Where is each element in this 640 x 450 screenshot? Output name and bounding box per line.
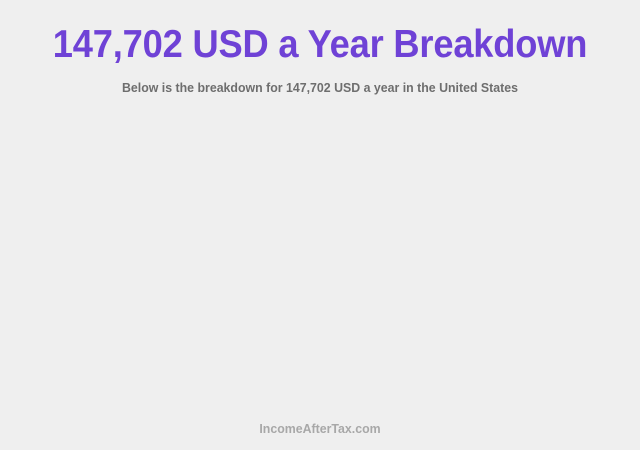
breakdown-body xyxy=(0,96,640,421)
breakdown-page: 147,702 USD a Year Breakdown Below is th… xyxy=(0,0,640,450)
page-subtitle: Below is the breakdown for 147,702 USD a… xyxy=(16,68,624,96)
breakdown-chart-area xyxy=(0,96,640,421)
page-footer: IncomeAfterTax.com xyxy=(0,421,640,450)
page-header: 147,702 USD a Year Breakdown Below is th… xyxy=(0,0,640,96)
page-title: 147,702 USD a Year Breakdown xyxy=(22,22,617,68)
chart-empty-placeholder xyxy=(0,96,640,421)
site-credit: IncomeAfterTax.com xyxy=(16,421,624,437)
